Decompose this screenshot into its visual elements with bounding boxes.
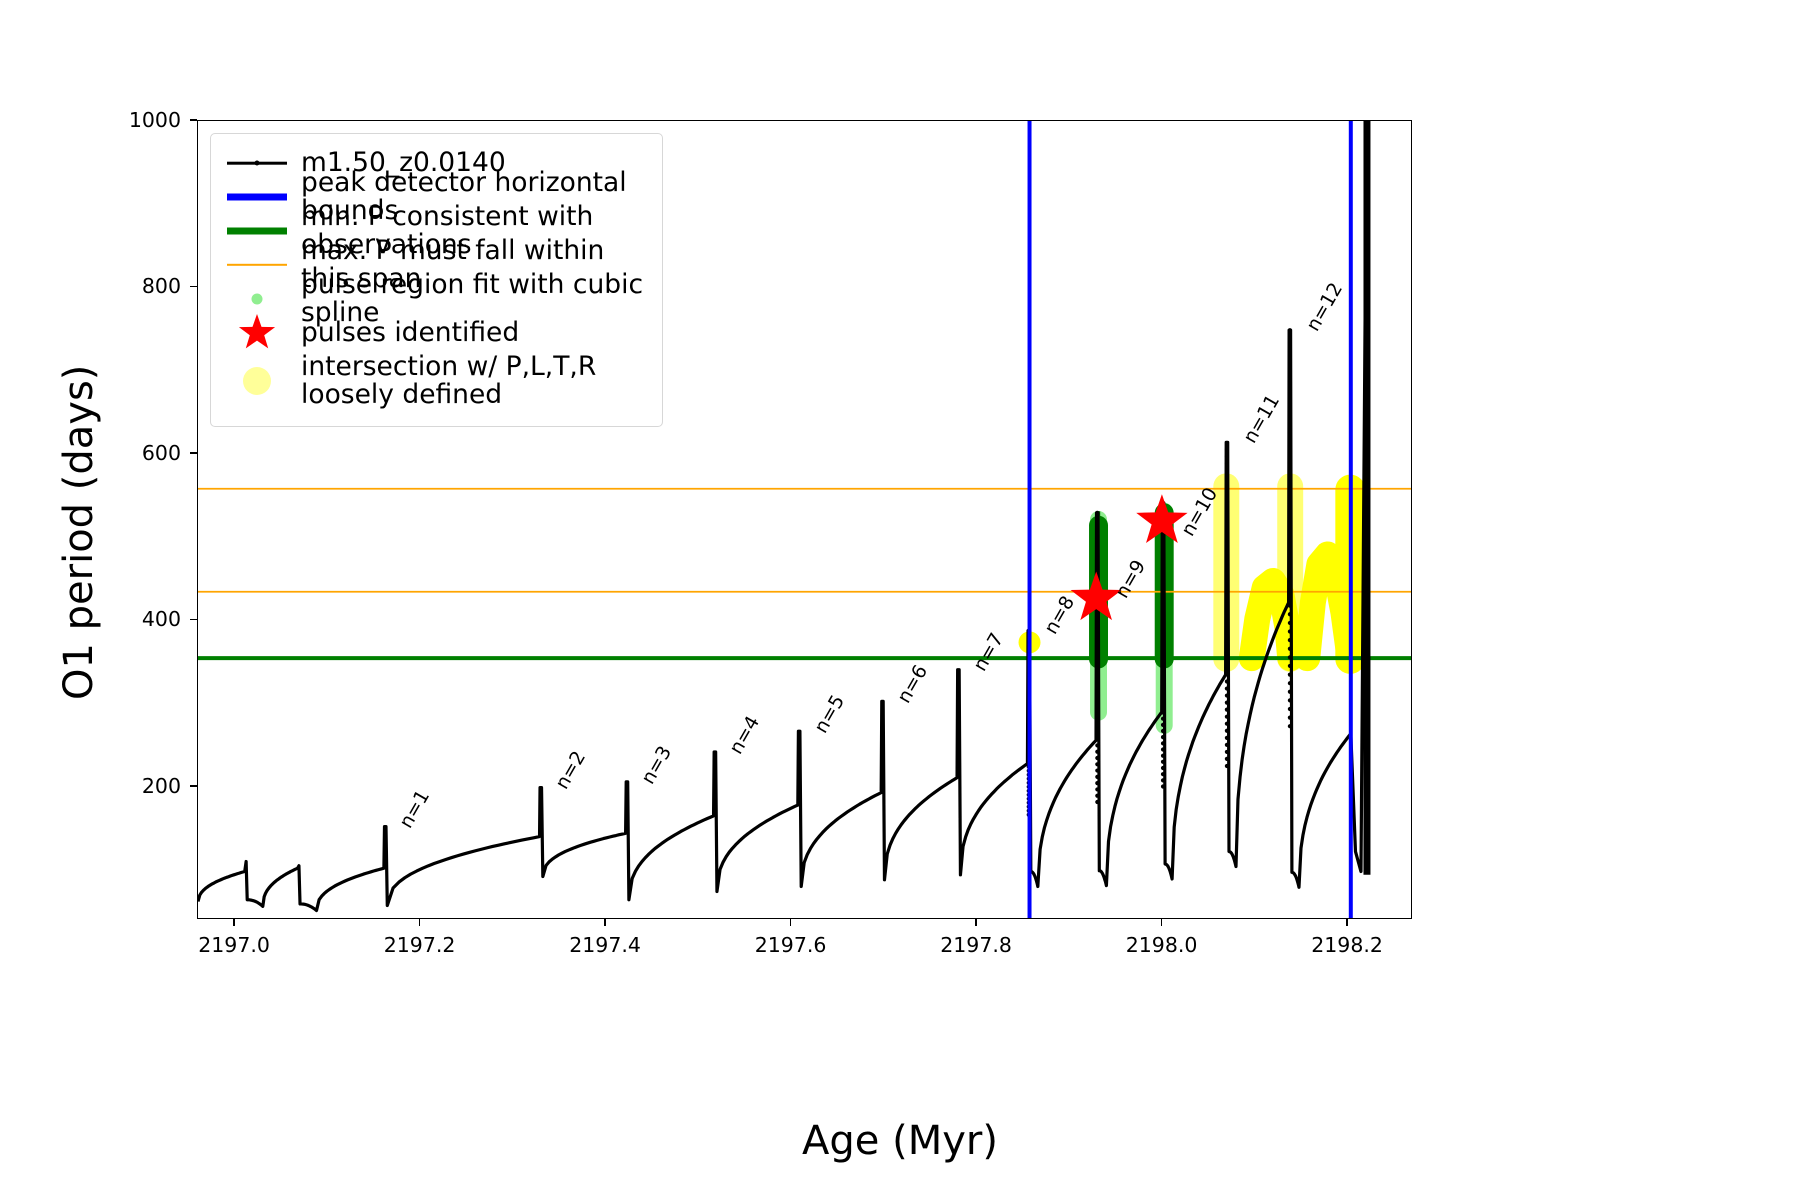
data-point bbox=[1161, 569, 1165, 573]
data-point bbox=[1095, 680, 1099, 684]
chart-legend: m1.50_z0.0140peak detector horizontal bo… bbox=[210, 133, 663, 427]
data-point bbox=[1095, 750, 1099, 754]
dot-icon bbox=[243, 367, 271, 395]
data-point bbox=[1225, 708, 1229, 712]
data-point bbox=[1288, 500, 1292, 504]
data-point bbox=[1161, 587, 1165, 591]
legend-thick-line-icon bbox=[225, 180, 289, 214]
data-point bbox=[1225, 588, 1229, 592]
data-point bbox=[1225, 701, 1229, 705]
data-point bbox=[1288, 647, 1292, 651]
data-point bbox=[1225, 496, 1229, 500]
data-point bbox=[1095, 649, 1099, 653]
data-point bbox=[1161, 760, 1165, 764]
legend-item-label: pulses identified bbox=[301, 319, 519, 347]
data-point bbox=[1288, 440, 1292, 444]
x-tick-label: 2197.2 bbox=[384, 933, 456, 957]
x-tick-label: 2198.2 bbox=[1311, 933, 1383, 957]
data-point bbox=[1161, 618, 1165, 622]
data-point bbox=[1225, 750, 1229, 754]
data-point bbox=[1161, 729, 1165, 733]
data-point bbox=[1225, 475, 1229, 479]
data-point bbox=[1225, 729, 1229, 733]
data-point bbox=[1095, 718, 1099, 722]
data-point bbox=[1288, 595, 1292, 599]
data-point bbox=[1288, 586, 1292, 590]
data-point bbox=[1095, 549, 1099, 553]
data-point bbox=[1225, 679, 1229, 683]
data-point bbox=[1288, 655, 1292, 659]
data-point bbox=[1161, 673, 1165, 677]
data-point bbox=[1161, 717, 1165, 721]
data-point bbox=[1225, 686, 1229, 690]
data-point bbox=[1288, 535, 1292, 539]
data-point bbox=[1225, 518, 1229, 522]
data-point bbox=[1095, 530, 1099, 534]
data-point bbox=[1225, 468, 1229, 472]
data-point bbox=[1161, 692, 1165, 696]
data-point bbox=[1095, 536, 1099, 540]
data-point bbox=[1225, 757, 1229, 761]
data-point bbox=[1288, 690, 1292, 694]
data-point bbox=[1288, 354, 1292, 358]
data-point bbox=[1161, 624, 1165, 628]
x-tick-label: 2198.0 bbox=[1126, 933, 1198, 957]
data-point bbox=[1161, 593, 1165, 597]
data-point bbox=[1225, 539, 1229, 543]
data-point bbox=[1225, 525, 1229, 529]
data-point bbox=[1225, 602, 1229, 606]
data-point bbox=[1161, 612, 1165, 616]
data-point bbox=[1225, 504, 1229, 508]
data-point bbox=[1288, 681, 1292, 685]
data-point bbox=[1161, 667, 1165, 671]
data-point bbox=[1288, 380, 1292, 384]
legend-thin-line-icon bbox=[225, 248, 289, 282]
y-tick-label: 800 bbox=[87, 274, 181, 298]
data-point bbox=[1161, 575, 1165, 579]
data-point bbox=[1095, 800, 1099, 804]
y-tick-label: 1000 bbox=[87, 108, 181, 132]
data-point bbox=[1095, 762, 1099, 766]
data-point bbox=[1161, 544, 1165, 548]
data-point bbox=[1095, 567, 1099, 571]
y-tick-label: 200 bbox=[87, 774, 181, 798]
data-point bbox=[1288, 397, 1292, 401]
data-point bbox=[1288, 371, 1292, 375]
data-point bbox=[1225, 489, 1229, 493]
y-tick-mark bbox=[190, 452, 197, 454]
data-point bbox=[1095, 662, 1099, 666]
data-point bbox=[1288, 431, 1292, 435]
x-tick-mark bbox=[1161, 919, 1163, 926]
x-tick-mark bbox=[790, 919, 792, 926]
data-point bbox=[1288, 414, 1292, 418]
legend-item[interactable]: pulse region fit with cubic spline bbox=[225, 282, 646, 316]
data-point bbox=[1095, 517, 1099, 521]
data-point bbox=[1288, 449, 1292, 453]
data-point bbox=[1095, 724, 1099, 728]
data-point bbox=[1095, 712, 1099, 716]
data-point bbox=[1161, 636, 1165, 640]
x-tick-mark bbox=[233, 919, 235, 926]
legend-item[interactable]: intersection w/ P,L,T,R loosely defined bbox=[225, 350, 646, 412]
data-point bbox=[1095, 756, 1099, 760]
data-point bbox=[1288, 664, 1292, 668]
data-point bbox=[1288, 569, 1292, 573]
data-point bbox=[1225, 693, 1229, 697]
data-point bbox=[1288, 707, 1292, 711]
data-point bbox=[1225, 567, 1229, 571]
data-point bbox=[1225, 630, 1229, 634]
data-point bbox=[1095, 674, 1099, 678]
y-tick-mark bbox=[190, 119, 197, 121]
data-point bbox=[1225, 553, 1229, 557]
data-point bbox=[1161, 772, 1165, 776]
data-point bbox=[1095, 706, 1099, 710]
data-point bbox=[1225, 616, 1229, 620]
data-point bbox=[1288, 629, 1292, 633]
data-point bbox=[1095, 643, 1099, 647]
data-point bbox=[1095, 775, 1099, 779]
data-point bbox=[1225, 637, 1229, 641]
data-point bbox=[1288, 716, 1292, 720]
data-point bbox=[1225, 581, 1229, 585]
data-point bbox=[1288, 388, 1292, 392]
data-point bbox=[1095, 637, 1099, 641]
chart-figure: O1 period (days) Age (Myr) 2004006008001… bbox=[0, 0, 1800, 1200]
data-point bbox=[1225, 764, 1229, 768]
data-point bbox=[1288, 612, 1292, 616]
data-point bbox=[1225, 511, 1229, 515]
legend-star-icon bbox=[225, 316, 289, 350]
data-point bbox=[1225, 546, 1229, 550]
data-point bbox=[1288, 492, 1292, 496]
data-point bbox=[1095, 511, 1099, 515]
data-point bbox=[1161, 649, 1165, 653]
legend-item-label: intersection w/ P,L,T,R loosely defined bbox=[301, 353, 596, 408]
data-point bbox=[1225, 447, 1229, 451]
x-tick-mark bbox=[419, 919, 421, 926]
data-point bbox=[1161, 538, 1165, 542]
data-point bbox=[1161, 599, 1165, 603]
legend-thick-line-icon bbox=[225, 214, 289, 248]
data-point bbox=[1225, 574, 1229, 578]
data-point bbox=[1095, 731, 1099, 735]
x-tick-mark bbox=[604, 919, 606, 926]
dot-icon bbox=[252, 294, 263, 305]
x-tick-label: 2197.6 bbox=[755, 933, 827, 957]
data-point bbox=[1225, 665, 1229, 669]
data-point bbox=[1161, 735, 1165, 739]
data-point bbox=[1288, 621, 1292, 625]
data-point bbox=[1225, 651, 1229, 655]
data-point bbox=[1225, 722, 1229, 726]
data-point bbox=[1095, 737, 1099, 741]
data-point bbox=[1095, 523, 1099, 527]
data-point bbox=[1288, 638, 1292, 642]
data-point bbox=[1288, 328, 1292, 332]
data-point bbox=[1225, 743, 1229, 747]
data-point bbox=[1225, 623, 1229, 627]
y-tick-mark bbox=[190, 286, 197, 288]
legend-big-dot-icon bbox=[225, 364, 289, 398]
x-tick-mark bbox=[1346, 919, 1348, 926]
data-point bbox=[1288, 543, 1292, 547]
data-point bbox=[1161, 661, 1165, 665]
data-point bbox=[1225, 658, 1229, 662]
data-point bbox=[1288, 518, 1292, 522]
data-point bbox=[1288, 337, 1292, 341]
data-point bbox=[1161, 686, 1165, 690]
data-point bbox=[1095, 618, 1099, 622]
data-point bbox=[1225, 736, 1229, 740]
x-tick-label: 2197.0 bbox=[198, 933, 270, 957]
data-point bbox=[1288, 345, 1292, 349]
x-tick-label: 2197.4 bbox=[569, 933, 641, 957]
data-point bbox=[1095, 687, 1099, 691]
star-icon bbox=[225, 313, 289, 353]
data-point bbox=[1288, 475, 1292, 479]
data-point bbox=[1095, 787, 1099, 791]
data-point bbox=[1225, 672, 1229, 676]
legend-line-icon bbox=[225, 146, 289, 180]
data-point bbox=[1161, 754, 1165, 758]
data-point bbox=[1161, 655, 1165, 659]
data-point bbox=[1095, 624, 1099, 628]
y-tick-label: 600 bbox=[87, 441, 181, 465]
data-point bbox=[1161, 723, 1165, 727]
data-point bbox=[1225, 715, 1229, 719]
data-point bbox=[1161, 698, 1165, 702]
data-point bbox=[1288, 363, 1292, 367]
data-point bbox=[1288, 509, 1292, 513]
data-point bbox=[1288, 578, 1292, 582]
data-point bbox=[1161, 741, 1165, 745]
data-point bbox=[1161, 550, 1165, 554]
data-point bbox=[1161, 747, 1165, 751]
data-point bbox=[1095, 655, 1099, 659]
line-icon bbox=[227, 228, 287, 235]
data-point bbox=[1225, 532, 1229, 536]
data-point bbox=[1288, 423, 1292, 427]
y-axis-title: O1 period (days) bbox=[56, 365, 102, 700]
data-point bbox=[1225, 644, 1229, 648]
data-point bbox=[1095, 794, 1099, 798]
data-point bbox=[1095, 693, 1099, 697]
data-point bbox=[1161, 704, 1165, 708]
data-point bbox=[1161, 606, 1165, 610]
data-point bbox=[1288, 552, 1292, 556]
data-point bbox=[1095, 743, 1099, 747]
data-point bbox=[1161, 766, 1165, 770]
data-point bbox=[1288, 483, 1292, 487]
data-point bbox=[1225, 560, 1229, 564]
x-tick-label: 2197.8 bbox=[940, 933, 1012, 957]
data-point bbox=[1288, 406, 1292, 410]
x-axis-title: Age (Myr) bbox=[0, 1118, 1800, 1164]
data-point bbox=[1161, 784, 1165, 788]
data-point bbox=[1095, 561, 1099, 565]
data-point bbox=[1225, 482, 1229, 486]
data-point bbox=[1225, 595, 1229, 599]
data-point bbox=[1161, 643, 1165, 647]
data-point bbox=[1095, 555, 1099, 559]
data-point bbox=[1288, 604, 1292, 608]
data-point bbox=[1288, 526, 1292, 530]
data-point bbox=[1161, 680, 1165, 684]
dot-icon bbox=[255, 161, 260, 166]
data-point bbox=[1288, 698, 1292, 702]
data-point bbox=[1095, 699, 1099, 703]
data-point bbox=[1225, 461, 1229, 465]
data-point bbox=[1095, 611, 1099, 615]
data-point bbox=[1161, 630, 1165, 634]
data-point bbox=[1095, 668, 1099, 672]
legend-dot-icon bbox=[225, 282, 289, 316]
data-point bbox=[1095, 781, 1099, 785]
x-tick-mark bbox=[975, 919, 977, 926]
y-tick-mark bbox=[190, 619, 197, 621]
data-point bbox=[1288, 724, 1292, 728]
y-tick-mark bbox=[190, 785, 197, 787]
data-point bbox=[1095, 630, 1099, 634]
data-point bbox=[1225, 454, 1229, 458]
data-point bbox=[1161, 581, 1165, 585]
data-point bbox=[1225, 609, 1229, 613]
line-icon bbox=[227, 264, 287, 266]
data-point bbox=[1095, 542, 1099, 546]
data-point bbox=[1161, 710, 1165, 714]
data-point bbox=[1288, 466, 1292, 470]
data-point bbox=[1161, 556, 1165, 560]
data-point bbox=[1288, 561, 1292, 565]
line-icon bbox=[227, 194, 287, 201]
data-point bbox=[1161, 778, 1165, 782]
data-point bbox=[1161, 562, 1165, 566]
y-tick-label: 400 bbox=[87, 607, 181, 631]
data-point bbox=[1095, 768, 1099, 772]
data-point bbox=[1288, 457, 1292, 461]
data-point bbox=[1288, 673, 1292, 677]
